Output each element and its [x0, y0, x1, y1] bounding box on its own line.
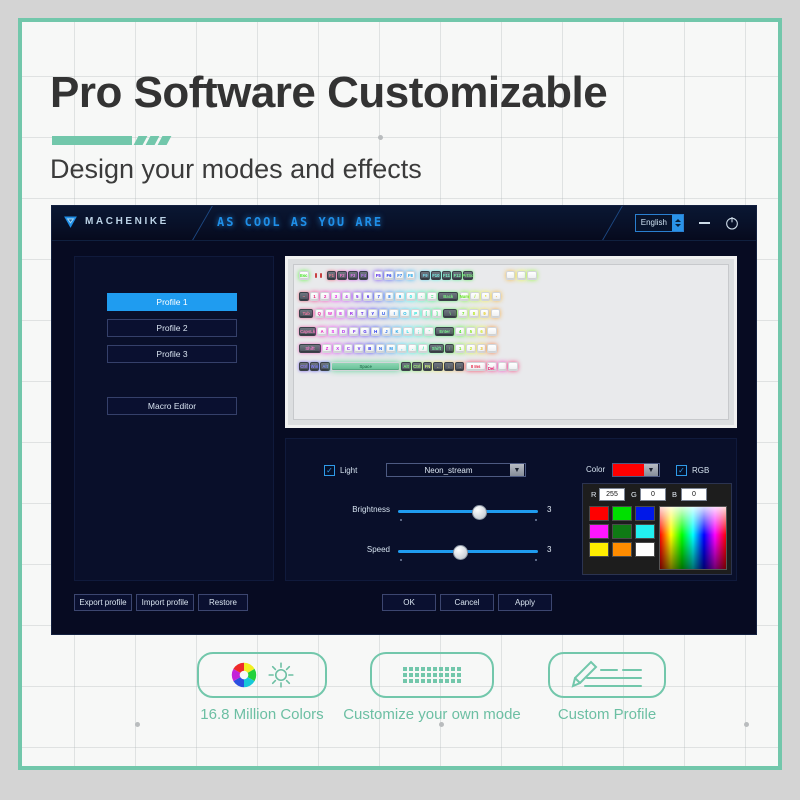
- poster-frame: Pro Software Customizable Design your mo…: [18, 18, 782, 770]
- keyboard-icon-key: [439, 667, 443, 671]
- language-value: English: [636, 215, 672, 231]
- macro-editor-button[interactable]: Macro Editor: [107, 397, 237, 415]
- rgb-toggle[interactable]: ✓ RGB: [676, 465, 709, 476]
- keyboard-icon-key: [409, 679, 413, 683]
- keyboard-icon-key: [445, 667, 449, 671]
- keyboard-key[interactable]: [508, 362, 518, 371]
- keyboard-icon-key: [421, 673, 425, 677]
- b-label: B: [672, 490, 677, 499]
- indicator-led: [315, 273, 317, 278]
- keyboard-icon-key: [427, 667, 431, 671]
- light-checkbox[interactable]: ✓: [324, 465, 335, 476]
- color-label: Color: [586, 465, 605, 474]
- keyboard-key[interactable]: F7: [395, 271, 405, 280]
- keyboard-key[interactable]: 2: [466, 344, 476, 353]
- apply-button[interactable]: Apply: [498, 594, 552, 611]
- brightness-slider[interactable]: [398, 510, 538, 513]
- keyboard-key[interactable]: [506, 271, 516, 280]
- color-swatch-6[interactable]: [589, 542, 609, 557]
- keyboard-key[interactable]: 8: [469, 309, 479, 318]
- speed-label: Speed: [324, 545, 390, 554]
- profile-button-3[interactable]: Profile 3: [107, 345, 237, 363]
- keyboard-key[interactable]: E: [336, 309, 346, 318]
- keyboard-key[interactable]: F6: [384, 271, 394, 280]
- minimize-icon[interactable]: [699, 222, 710, 224]
- keyboard-key[interactable]: 7: [374, 292, 384, 301]
- keyboard-icon-key: [403, 673, 407, 677]
- keyboard-key[interactable]: 5: [353, 292, 363, 301]
- keyboard-key[interactable]: Num: [460, 292, 470, 301]
- keyboard-key[interactable]: F9: [420, 271, 430, 280]
- keyboard-key[interactable]: B: [365, 344, 375, 353]
- app-titlebar: MACHENIKE AS COOL AS YOU ARE English: [52, 206, 756, 241]
- cancel-button[interactable]: Cancel: [440, 594, 494, 611]
- keyboard-key[interactable]: M: [386, 344, 396, 353]
- keyboard-key[interactable]: F2: [337, 271, 347, 280]
- keyboard-key[interactable]: K: [392, 327, 402, 336]
- keyboard-key[interactable]: 4: [342, 292, 352, 301]
- keyboard-key[interactable]: ;: [414, 327, 424, 336]
- effect-dropdown[interactable]: Neon_stream ▼: [386, 463, 526, 477]
- keyboard-key[interactable]: /: [470, 292, 480, 301]
- keyboard-key[interactable]: Back: [438, 292, 458, 301]
- slider-tick: [400, 559, 402, 561]
- feature-colors-caption: 16.8 Million Colors: [172, 706, 352, 725]
- keyboard-key[interactable]: →: [455, 362, 465, 371]
- color-swatch-3[interactable]: [589, 524, 609, 539]
- speed-value: 3: [547, 545, 551, 554]
- import-profile-button[interactable]: Import profile: [136, 594, 194, 611]
- language-spinner-icon[interactable]: [672, 215, 683, 231]
- keyboard-key[interactable]: PrtSc: [463, 271, 473, 280]
- keyboard-icon-key: [439, 673, 443, 677]
- keyboard-icon-key: [415, 673, 419, 677]
- speed-slider-knob[interactable]: [453, 545, 468, 560]
- pencil-profile-icon: [565, 658, 649, 692]
- keyboard-key[interactable]: A: [317, 327, 327, 336]
- page-title: Pro Software Customizable: [50, 68, 607, 118]
- brightness-value: 3: [547, 505, 551, 514]
- keyboard-key[interactable]: [487, 344, 497, 353]
- keyboard-key[interactable]: Y: [368, 309, 378, 318]
- keyboard-key[interactable]: T: [357, 309, 367, 318]
- keyboard-icon-key: [433, 667, 437, 671]
- keyboard-icon-key: [427, 673, 431, 677]
- keyboard-key[interactable]: F10: [431, 271, 441, 280]
- poster-root: Pro Software Customizable Design your mo…: [0, 0, 800, 800]
- keyboard-key[interactable]: S: [328, 327, 338, 336]
- color-swatch-grid[interactable]: [589, 506, 655, 557]
- keyboard-icon-key: [403, 679, 407, 683]
- keyboard-key[interactable]: 0: [406, 292, 416, 301]
- keyboard-icon-key: [421, 667, 425, 671]
- page-subtitle: Design your modes and effects: [50, 154, 422, 185]
- keyboard-key[interactable]: 1: [310, 292, 320, 301]
- keyboard-key[interactable]: Ctrl: [412, 362, 422, 371]
- speed-slider[interactable]: [398, 550, 538, 553]
- keyboard-key[interactable]: 0 Ins: [466, 362, 486, 371]
- keyboard-key[interactable]: Esc: [299, 271, 309, 280]
- keyboard-key[interactable]: [498, 362, 508, 371]
- keyboard-key[interactable]: ]: [432, 309, 442, 318]
- color-picker-panel[interactable]: R 255 G 0 B 0: [582, 483, 732, 575]
- keyboard-key[interactable]: F: [349, 327, 359, 336]
- keyboard-key[interactable]: Alt: [320, 362, 330, 371]
- color-swatch-7[interactable]: [612, 542, 632, 557]
- color-swatch-8[interactable]: [635, 542, 655, 557]
- keyboard-key[interactable]: U: [379, 309, 389, 318]
- keyboard-key[interactable]: *: [481, 292, 491, 301]
- export-profile-button[interactable]: Export profile: [74, 594, 132, 611]
- keyboard-key[interactable]: Tab: [299, 309, 313, 318]
- keyboard-key[interactable]: W: [325, 309, 335, 318]
- keyboard-key[interactable]: F11: [442, 271, 452, 280]
- keyboard-key[interactable]: 1: [455, 344, 465, 353]
- keyboard-icon-key: [403, 667, 407, 671]
- keyboard-key[interactable]: CapsLk: [299, 327, 316, 336]
- slider-tick: [535, 519, 537, 521]
- keyboard-icon-key: [427, 679, 431, 683]
- keyboard-key[interactable]: ↑: [445, 344, 455, 353]
- keyboard-key[interactable]: F12: [452, 271, 462, 280]
- color-gradient-picker[interactable]: [659, 506, 727, 570]
- keyboard-key[interactable]: 8: [385, 292, 395, 301]
- keyboard-key[interactable]: N: [376, 344, 386, 353]
- keyboard-icon-key: [451, 679, 455, 683]
- keyboard-icon-key: [445, 673, 449, 677]
- language-selector[interactable]: English: [635, 214, 684, 232]
- g-field[interactable]: 0: [640, 488, 666, 501]
- keyboard-key[interactable]: [491, 309, 501, 318]
- app-slogan: AS COOL AS YOU ARE: [217, 215, 383, 229]
- keyboard-icon: [403, 667, 461, 683]
- profile-panel: Profile 1 Profile 2 Profile 3 Macro Edit…: [74, 256, 274, 581]
- feature-mode: Customize your own mode: [337, 652, 527, 725]
- indicator-led: [320, 273, 322, 278]
- feature-mode-caption: Customize your own mode: [337, 706, 527, 725]
- keyboard-icon-key: [415, 667, 419, 671]
- color-swatch-2[interactable]: [635, 506, 655, 521]
- keyboard-key[interactable]: P: [411, 309, 421, 318]
- keyboard-key[interactable]: . Del: [487, 362, 497, 371]
- keyboard-key[interactable]: ←: [433, 362, 443, 371]
- color-swatch-4[interactable]: [612, 524, 632, 539]
- keyboard-key[interactable]: J: [382, 327, 392, 336]
- keyboard-icon-key: [439, 679, 443, 683]
- keyboard-keys-area[interactable]: EscF1F2F3F4F5F6F7F8F9F10F11F12PrtSc~1234…: [293, 264, 729, 420]
- profile-button-2[interactable]: Profile 2: [107, 319, 237, 337]
- keyboard-key[interactable]: F4: [359, 271, 369, 280]
- keyboard-key[interactable]: Enter: [435, 327, 454, 336]
- feature-profile-pill: [548, 652, 666, 698]
- keyboard-key[interactable]: 7: [458, 309, 468, 318]
- keyboard-key[interactable]: Ctrl: [299, 362, 309, 371]
- color-dropdown[interactable]: ▼: [612, 463, 660, 477]
- brightness-icon: [267, 661, 295, 689]
- feature-colors: 16.8 Million Colors: [172, 652, 352, 725]
- brand-logo: MACHENIKE: [62, 213, 169, 230]
- keyboard-key[interactable]: Shift: [429, 344, 443, 353]
- keyboard-icon-key: [433, 679, 437, 683]
- r-label: R: [591, 490, 596, 499]
- keyboard-key[interactable]: 6: [477, 327, 487, 336]
- keyboard-key[interactable]: ~: [299, 292, 309, 301]
- keyboard-key[interactable]: L: [403, 327, 413, 336]
- keyboard-key[interactable]: 4: [455, 327, 465, 336]
- effect-value: Neon_stream: [387, 466, 510, 475]
- light-toggle[interactable]: ✓ Light: [324, 465, 357, 476]
- profile-button-1[interactable]: Profile 1: [107, 293, 237, 311]
- keyboard-key[interactable]: 5: [466, 327, 476, 336]
- keyboard-key[interactable]: H: [371, 327, 381, 336]
- keyboard-icon-key: [433, 673, 437, 677]
- keyboard-key[interactable]: -: [492, 292, 502, 301]
- keyboard-icon-key: [445, 679, 449, 683]
- keyboard-key[interactable]: [517, 271, 527, 280]
- keyboard-key[interactable]: Win: [310, 362, 320, 371]
- restore-button[interactable]: Restore: [198, 594, 248, 611]
- feature-profile-caption: Custom Profile: [512, 706, 702, 725]
- keyboard-key[interactable]: Alt: [401, 362, 411, 371]
- keyboard-key[interactable]: 9: [395, 292, 405, 301]
- keyboard-key[interactable]: 2: [320, 292, 330, 301]
- keyboard-key[interactable]: V: [354, 344, 364, 353]
- keyboard-preview-panel: EscF1F2F3F4F5F6F7F8F9F10F11F12PrtSc~1234…: [285, 256, 737, 428]
- feature-profile: Custom Profile: [512, 652, 702, 725]
- keyboard-key[interactable]: FN: [423, 362, 433, 371]
- keyboard-key[interactable]: F3: [348, 271, 358, 280]
- keyboard-key[interactable]: Space: [331, 362, 400, 371]
- keyboard-key[interactable]: 3: [477, 344, 487, 353]
- keyboard-key[interactable]: C: [344, 344, 354, 353]
- grid-dot: [378, 135, 383, 140]
- software-window: MACHENIKE AS COOL AS YOU ARE English: [51, 205, 757, 635]
- keyboard-icon-key: [457, 673, 461, 677]
- keyboard-key[interactable]: Z: [322, 344, 332, 353]
- feature-row: 16.8 Million Colors Customize your own m…: [22, 652, 782, 762]
- color-swatch-0[interactable]: [589, 506, 609, 521]
- keyboard-icon-key: [421, 679, 425, 683]
- keyboard-key[interactable]: [: [422, 309, 432, 318]
- light-label: Light: [340, 466, 357, 475]
- keyboard-key[interactable]: F8: [406, 271, 416, 280]
- keyboard-icon-key: [409, 673, 413, 677]
- rgb-label: RGB: [692, 466, 709, 475]
- color-swatch-1[interactable]: [612, 506, 632, 521]
- feature-mode-pill: [370, 652, 494, 698]
- keyboard-icon-key: [457, 667, 461, 671]
- keyboard-key[interactable]: Shift: [299, 344, 321, 353]
- keyboard-key[interactable]: ': [424, 327, 434, 336]
- power-icon[interactable]: [724, 215, 740, 231]
- ok-button[interactable]: OK: [382, 594, 436, 611]
- keyboard-key[interactable]: 3: [331, 292, 341, 301]
- keyboard-key[interactable]: D: [339, 327, 349, 336]
- keyboard-key[interactable]: X: [333, 344, 343, 353]
- b-field[interactable]: 0: [681, 488, 707, 501]
- lighting-settings-panel: ✓ Light Neon_stream ▼ Brightness 3 Speed: [285, 438, 737, 581]
- rgb-checkbox[interactable]: ✓: [676, 465, 687, 476]
- keyboard-key[interactable]: Q: [315, 309, 325, 318]
- keyboard-key[interactable]: .: [408, 344, 418, 353]
- keyboard-key[interactable]: F1: [327, 271, 337, 280]
- slider-tick: [400, 519, 402, 521]
- r-field[interactable]: 255: [599, 488, 625, 501]
- machenike-logo-icon: [62, 213, 79, 230]
- keyboard-icon-key: [409, 667, 413, 671]
- chevron-down-icon[interactable]: ▼: [510, 464, 524, 476]
- brightness-slider-knob[interactable]: [472, 505, 487, 520]
- brand-name: MACHENIKE: [85, 216, 169, 227]
- keyboard-key[interactable]: I: [389, 309, 399, 318]
- keyboard-key[interactable]: \: [443, 309, 457, 318]
- keyboard-key[interactable]: =: [427, 292, 437, 301]
- keyboard-key[interactable]: 9: [480, 309, 490, 318]
- keyboard-image[interactable]: EscF1F2F3F4F5F6F7F8F9F10F11F12PrtSc~1234…: [285, 256, 737, 428]
- color-wheel-icon: [229, 660, 259, 690]
- brightness-label: Brightness: [324, 505, 390, 514]
- keyboard-key[interactable]: F5: [374, 271, 384, 280]
- keyboard-key[interactable]: 6: [363, 292, 373, 301]
- keyboard-key[interactable]: [527, 271, 537, 280]
- keyboard-key[interactable]: O: [400, 309, 410, 318]
- feature-colors-pill: [197, 652, 327, 698]
- keyboard-icon-key: [415, 679, 419, 683]
- selected-color-swatch: [613, 464, 644, 476]
- chevron-down-icon[interactable]: ▼: [644, 464, 658, 476]
- keyboard-key[interactable]: -: [417, 292, 427, 301]
- slider-tick: [535, 559, 537, 561]
- keyboard-key[interactable]: ,: [397, 344, 407, 353]
- keyboard-key[interactable]: /: [418, 344, 428, 353]
- keyboard-key[interactable]: R: [347, 309, 357, 318]
- keyboard-icon-key: [451, 673, 455, 677]
- keyboard-key[interactable]: ↓: [444, 362, 454, 371]
- keyboard-key[interactable]: [487, 327, 497, 336]
- color-swatch-5[interactable]: [635, 524, 655, 539]
- g-label: G: [631, 490, 637, 499]
- keyboard-icon-key: [451, 667, 455, 671]
- keyboard-icon-key: [457, 679, 461, 683]
- keyboard-key[interactable]: G: [360, 327, 370, 336]
